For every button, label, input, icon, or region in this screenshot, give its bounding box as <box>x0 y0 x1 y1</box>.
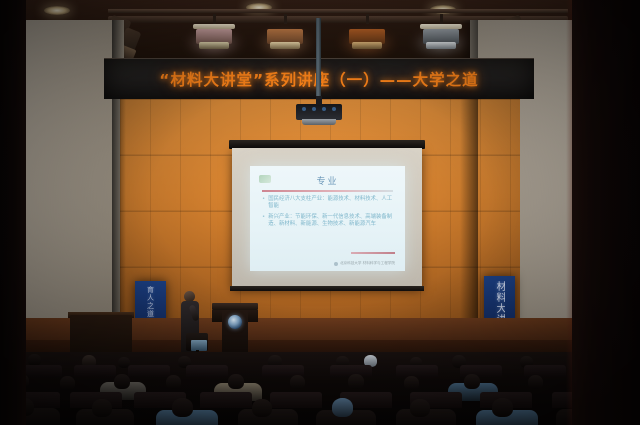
stage-light-fixture <box>193 14 235 54</box>
audience-head <box>252 399 272 417</box>
projected-slide: 专业 • 国民经济八大支柱产业：能源技术、材料技术、人工智能 • 新兴产业：节能… <box>250 166 405 271</box>
projector-mount-pole <box>316 18 321 100</box>
podium-top <box>212 303 258 310</box>
auditorium-photo: “材料大讲堂”系列讲座（一）——大学之道 专业 • 国民经济八大支柱产业：能源技… <box>0 0 640 425</box>
audience-head <box>492 398 513 417</box>
laptop-screen <box>191 340 207 351</box>
university-seal-icon <box>228 315 242 329</box>
audience-head <box>92 399 112 417</box>
audience-head <box>290 375 305 389</box>
audience-head <box>60 376 75 390</box>
audience-head <box>332 398 353 417</box>
slide-bullet-text: 新兴产业：节能环保、新一代信息技术、高端装备制造、新材料、新能源、生物技术、新能… <box>268 214 396 229</box>
audience-head <box>404 376 419 390</box>
slide-bullet-item: • 国民经济八大支柱产业：能源技术、材料技术、人工智能 <box>262 196 396 211</box>
podium <box>212 303 258 355</box>
screen-bottom-bar <box>230 286 424 291</box>
slide-footer: 北京科技大学 材料科学与工程学院 <box>334 261 395 266</box>
audience-head <box>410 399 430 417</box>
slide-footer-text: 北京科技大学 材料科学与工程学院 <box>340 261 395 266</box>
slide-title: 专业 <box>250 174 405 187</box>
curtain-left <box>0 0 26 425</box>
stage-light-fixture <box>420 14 462 54</box>
audience-area <box>0 352 640 425</box>
audience-head <box>228 374 244 389</box>
audience-head <box>348 374 364 389</box>
curtain-right <box>572 0 640 425</box>
audience-head <box>166 375 181 389</box>
slide-footer-rule <box>351 252 395 254</box>
audience-head <box>114 374 130 389</box>
bullet-marker-icon: • <box>262 196 265 211</box>
audience-head <box>464 374 480 389</box>
lighting-truss-upper <box>108 9 568 13</box>
bullet-marker-icon: • <box>262 214 265 229</box>
slide-footer-logo-icon <box>334 262 338 266</box>
audience-head <box>172 398 193 417</box>
slide-body: • 国民经济八大支柱产业：能源技术、材料技术、人工智能 • 新兴产业：节能环保、… <box>262 196 396 232</box>
audience-head <box>528 375 543 389</box>
ceiling-projector <box>296 104 342 120</box>
slide-bullet-item: • 新兴产业：节能环保、新一代信息技术、高端装备制造、新材料、新能源、生物技术、… <box>262 214 396 229</box>
slide-bullet-text: 国民经济八大支柱产业：能源技术、材料技术、人工智能 <box>268 196 396 211</box>
recessed-light-icon <box>44 6 70 15</box>
stage-light-fixture <box>346 14 388 54</box>
slide-title-rule <box>262 190 393 192</box>
stage-light-fixture <box>264 14 306 54</box>
